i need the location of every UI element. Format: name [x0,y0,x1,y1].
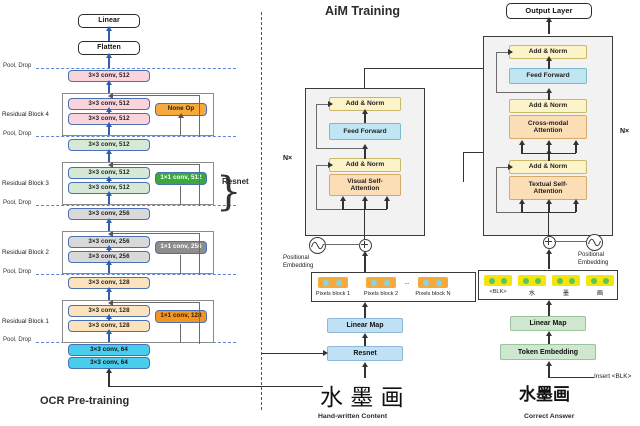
shortcut-line-stage2-top [112,233,200,234]
arrow-stage1-mid [108,318,110,321]
arrow-text-ff-to-addnorm [548,60,550,69]
text-qkv-arrow-v [575,203,577,212]
text-qkv-arrow-q [521,203,523,212]
visual-skip-line-1 [316,165,317,209]
visual-out-line-cross-drop [463,152,464,182]
shortcut-line-stage1-side [199,302,200,344]
shortcut-line-stage3-top [112,164,200,165]
token-dot-icon [489,278,495,284]
arrow-panel-to-output [548,21,550,34]
pool-drop-label-3: Pool, Drop [3,200,31,206]
pool-drop-line-1 [36,68,236,69]
token-embedding-box: Token Embedding [500,344,596,360]
visual-feed-forward: Feed Forward [329,123,401,140]
pixel-dot-icon [423,280,429,286]
arrow-text-to-tokenemb [548,365,550,377]
visual-nx-label: N× [283,155,292,162]
arrow-stage4-in [108,126,110,135]
text-pos-emb-label-line1: Positional [578,252,604,259]
text-skip-line-1 [496,167,497,212]
merge-arrow-stage1 [112,302,116,303]
pixel-dot-icon [436,280,442,286]
arrow-visual-emb-to-plus [364,255,366,272]
arrow-resnet-to-linearmap [364,337,366,346]
shortcut-line-stage3-in [180,186,181,205]
residual-block-2-label: Residual Block 2 [2,249,49,256]
text-skip-arrow-3 [496,52,509,53]
arrow-linearmap-to-strip [364,306,366,318]
pool-drop-label-5: Pool, Drop [3,337,31,343]
pool-drop-label-1: Pool, Drop [3,63,31,69]
pixels-ellipsis: ... [401,280,413,286]
visual-pe-connect-line [324,244,360,245]
pixels-block-n-cell [418,277,448,288]
handwritten-caption: Hand-written Content [318,413,387,420]
pixel-dot-icon [336,280,342,286]
text-skip-bottom-3 [496,92,548,93]
ocr-pretraining-caption: OCR Pre-training [40,395,129,407]
visual-self-attention: Visual Self- Attention [329,174,401,196]
arrow-image-to-resnet [364,366,366,378]
shortcut-line-stage3-side [199,164,200,206]
token-dot-icon [591,278,597,284]
pixels-block-n-label: Pixels block N [411,291,455,297]
visual-out-line-up [364,68,365,89]
shortcut-line-stage4-side [199,95,200,137]
visual-pos-emb-label-line1: Positional [283,255,309,262]
token-dot-icon [603,278,609,284]
pool-drop-label-2: Pool, Drop [3,131,31,137]
visual-qkv-arrow-v [386,200,388,209]
correct-answer-text: 水墨画 [519,380,570,405]
visual-skip-arrow-1 [316,165,329,166]
token-cell-2 [552,275,580,286]
token-label-3: 画 [584,288,616,297]
visual-linear-map: Linear Map [327,318,403,333]
arrow-stage3-mid [108,180,110,183]
arrow-tokenemb-to-linearmap [548,335,550,344]
visual-skip-arrow-2 [316,104,329,105]
arrow-ocr-to-resnet [262,353,324,354]
pool-drop-line-4 [36,274,236,275]
pool-drop-line-3 [36,205,236,206]
arrow-cross-to-ff [548,92,550,100]
text-pos-emb-label-line2: Embedding [578,260,608,267]
text-nx-label: N× [620,128,629,135]
arrow-stage2-in [108,264,110,273]
token-label-1: 水 [516,288,548,297]
arrow-stage3-in [108,195,110,204]
pixel-dot-icon [384,280,390,286]
visual-positional-embedding-icon [309,237,326,254]
shortcut-line-stage2-in [180,255,181,274]
text-skip-arrow-1 [496,167,509,168]
text-add-norm-1: Add & Norm [509,160,587,174]
residual-block-1-label: Residual Block 1 [2,318,49,325]
visual-skip-line-2 [316,104,317,148]
arrow-stage2-mid [108,249,110,252]
residual-block-3-label: Residual Block 3 [2,180,49,187]
insert-blk-label: Insert <BLK> [594,373,631,381]
text-positional-embedding-icon [586,234,603,251]
shortcut-line-stage2-side [199,233,200,275]
diagram-canvas: AiM Training Linear Flatten Pool, Drop P… [0,0,640,426]
text-linear-map: Linear Map [510,316,586,331]
text-add-norm-2: Add & Norm [509,99,587,113]
visual-qkv-arrow-k [364,200,366,209]
shortcut-line-stage4-in [180,117,181,136]
token-label-2: 墨 [550,288,582,297]
visual-resnet-box: Resnet [327,346,403,361]
arrow-visual-ff-to-addnorm [364,113,366,123]
cross-qkv-arrow-q [521,144,523,153]
pool-drop-line-2 [36,136,236,137]
token-label-blk: <BLK> [482,289,514,295]
resnet-brace-label: Resnet [222,177,249,186]
pixel-dot-icon [323,280,329,286]
correct-answer-caption: Correct Answer [524,413,574,420]
visual-add-norm-1: Add & Norm [329,158,401,172]
arrow-visual-attn-to-ff [364,148,366,159]
pixels-block-1-cell [318,277,348,288]
pixel-dot-icon [371,280,377,286]
token-dot-icon [557,278,563,284]
pixels-block-2-label: Pixels block 2 [359,291,403,297]
shortcut-line-stage1-in [180,324,181,343]
cross-modal-attention: Cross-modal Attention [509,115,587,139]
shortcut-line-stage4-top [112,95,200,96]
visual-pos-emb-label-line2: Embedding [283,263,313,270]
arrow-input-to-conv [108,372,110,386]
textual-self-attention: Textual Self- Attention [509,176,587,200]
page-title: AiM Training [325,4,400,18]
token-dot-icon [501,278,507,284]
token-dot-icon [535,278,541,284]
text-qkv-arrow-k [548,203,550,212]
section-divider [261,12,262,410]
visual-skip-bottom-2 [316,148,364,149]
pixels-block-1-label: Pixels block 1 [311,291,355,297]
token-dot-icon [569,278,575,284]
arrow-stage1-in [108,333,110,342]
handwritten-input-text: 水 墨 画 [320,378,404,412]
shortcut-line-stage1-top [112,302,200,303]
arrow-stage4-mid [108,111,110,114]
text-skip-line-3 [496,52,497,92]
merge-arrow-stage4 [112,95,116,96]
text-add-operator-icon [543,236,556,249]
token-dot-icon [523,278,529,284]
arrow-textattn-to-cross [548,153,550,161]
residual-block-4-label: Residual Block 4 [2,111,49,118]
pixels-block-2-cell [366,277,396,288]
token-cell-blk [484,275,512,286]
merge-arrow-stage3 [112,164,116,165]
token-cell-3 [586,275,614,286]
text-pe-connect-line [554,241,587,242]
token-cell-1 [518,275,546,286]
input-feed-line [108,386,323,387]
pool-drop-label-4: Pool, Drop [3,269,31,275]
merge-arrow-stage2 [112,233,116,234]
visual-qkv-arrow-q [342,200,344,209]
cross-qkv-arrow-v [575,144,577,153]
arrow-tokens-to-plus [548,253,550,269]
input-conv-a: 3×3 conv, 64 [68,344,150,356]
arrow-linearmap-to-tokens [548,304,550,316]
insert-blk-line [548,377,594,378]
text-feed-forward: Feed Forward [509,68,587,84]
